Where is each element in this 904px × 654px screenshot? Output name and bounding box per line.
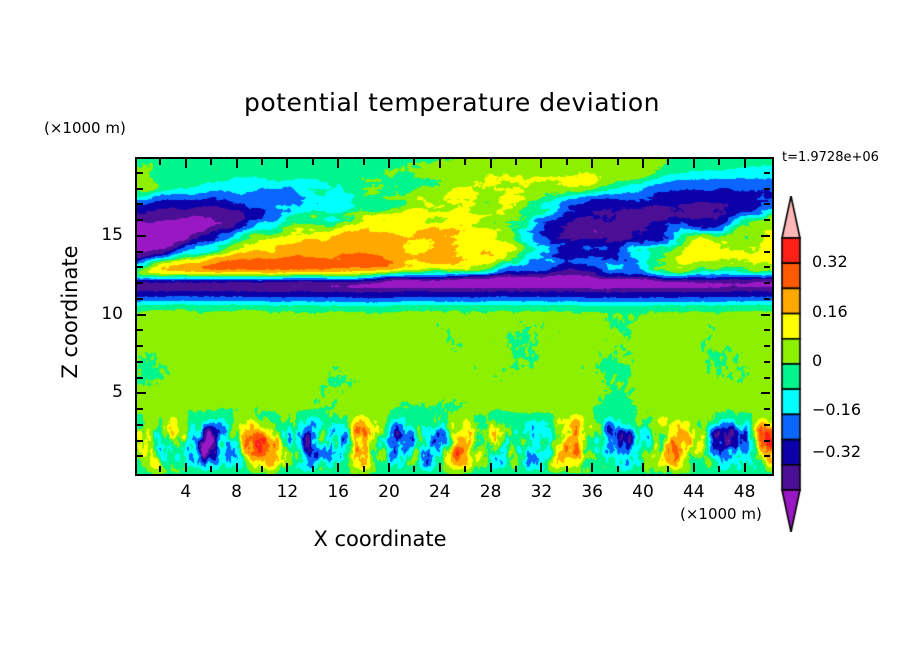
y-axis-title: Z coordinate [58,212,82,412]
y-axis-tick [764,266,770,268]
x-axis-tick [261,466,263,472]
temperature-deviation-field [137,159,772,474]
x-axis-tick [744,463,746,472]
x-axis-tick [413,159,415,165]
y-axis-tick [137,361,143,363]
y-axis-tick [764,424,770,426]
x-tick-label: 36 [572,482,612,502]
x-tick-label: 16 [318,482,358,502]
y-axis-tick [137,298,143,300]
y-axis-tick [761,314,770,316]
colorbar-tick-label: 0.32 [812,252,848,271]
colorbar [776,196,806,532]
x-axis-tick [210,466,212,472]
x-axis-tick [464,466,466,472]
x-axis-tick [388,159,390,168]
x-tick-label: 12 [267,482,307,502]
colorbar-tick-label: 0.16 [812,302,848,321]
x-axis-tick [718,159,720,165]
x-axis-tick [312,159,314,165]
x-axis-tick [566,159,568,165]
x-axis-tick [490,463,492,472]
x-axis-tick [236,463,238,472]
y-axis-tick [764,282,770,284]
x-axis-title: X coordinate [0,527,760,551]
x-axis-tick [439,463,441,472]
x-tick-label: 40 [623,482,663,502]
colorbar-tick-label: 0 [812,351,822,370]
y-axis-tick [764,440,770,442]
y-axis-tick [137,377,143,379]
x-tick-label: 44 [674,482,714,502]
x-axis-tick [540,463,542,472]
y-axis-tick [137,440,143,442]
x-axis-tick [667,466,669,472]
y-axis-tick [137,188,143,190]
y-axis-tick [764,298,770,300]
x-axis-tick [642,159,644,168]
y-axis-tick [137,172,143,174]
x-tick-label: 32 [521,482,561,502]
x-axis-tick [718,466,720,472]
x-axis-tick [337,159,339,168]
x-tick-label: 28 [471,482,511,502]
x-axis-tick [693,463,695,472]
y-axis-tick [764,188,770,190]
colorbar-tick-label: −0.16 [812,400,861,419]
figure-canvas: potential temperature deviation (×1000 m… [0,0,904,654]
colorbar-tick-label: −0.32 [812,442,861,461]
y-axis-tick [764,203,770,205]
y-axis-tick [764,345,770,347]
y-axis-tick [137,345,143,347]
x-axis-tick [363,159,365,165]
x-axis-tick [439,159,441,168]
y-axis-tick [764,455,770,457]
x-axis-tick [236,159,238,168]
x-axis-tick [185,159,187,168]
x-axis-tick [159,159,161,165]
y-axis-tick [137,455,143,457]
colorbar-gradient [776,196,806,532]
x-axis-tick [693,159,695,168]
y-axis-tick [761,235,770,237]
x-tick-label: 48 [725,482,765,502]
x-axis-tick [642,463,644,472]
x-tick-label: 20 [369,482,409,502]
x-axis-tick [744,159,746,168]
y-axis-tick [764,377,770,379]
y-tick-label: 5 [83,382,123,402]
x-tick-label: 8 [217,482,257,502]
contour-plot-area [135,157,774,476]
y-axis-tick [137,251,143,253]
x-axis-tick [388,463,390,472]
x-axis-tick [540,159,542,168]
x-axis-units-label: (×1000 m) [680,505,762,523]
x-axis-tick [515,159,517,165]
y-axis-tick [137,219,143,221]
chart-title: potential temperature deviation [0,88,904,117]
x-axis-tick [363,466,365,472]
x-axis-tick [617,466,619,472]
y-axis-tick [137,329,143,331]
x-axis-tick [286,463,288,472]
time-annotation: t=1.9728e+06 [782,150,879,165]
y-axis-tick [137,266,143,268]
x-tick-label: 24 [420,482,460,502]
y-axis-units-label: (×1000 m) [44,119,126,137]
x-axis-tick [337,463,339,472]
y-tick-label: 15 [83,225,123,245]
y-axis-tick [764,361,770,363]
x-axis-tick [185,463,187,472]
x-axis-tick [667,159,669,165]
y-axis-tick [764,329,770,331]
y-axis-tick [137,392,146,394]
y-axis-tick [137,314,146,316]
x-axis-tick [261,159,263,165]
y-axis-tick [137,282,143,284]
x-axis-tick [413,466,415,472]
x-axis-tick [617,159,619,165]
y-axis-tick [137,424,143,426]
x-axis-tick [591,463,593,472]
x-axis-tick [286,159,288,168]
y-axis-tick [764,219,770,221]
y-axis-tick [764,172,770,174]
y-axis-tick [137,408,143,410]
y-axis-tick [137,235,146,237]
x-axis-tick [464,159,466,165]
x-axis-tick [566,466,568,472]
x-axis-tick [591,159,593,168]
x-tick-label: 4 [166,482,206,502]
y-axis-tick [137,203,143,205]
x-axis-tick [210,159,212,165]
y-axis-tick [764,408,770,410]
x-axis-tick [159,466,161,472]
x-axis-tick [312,466,314,472]
y-axis-tick [764,251,770,253]
y-axis-tick [761,392,770,394]
x-axis-tick [515,466,517,472]
x-axis-tick [490,159,492,168]
y-tick-label: 10 [83,304,123,324]
